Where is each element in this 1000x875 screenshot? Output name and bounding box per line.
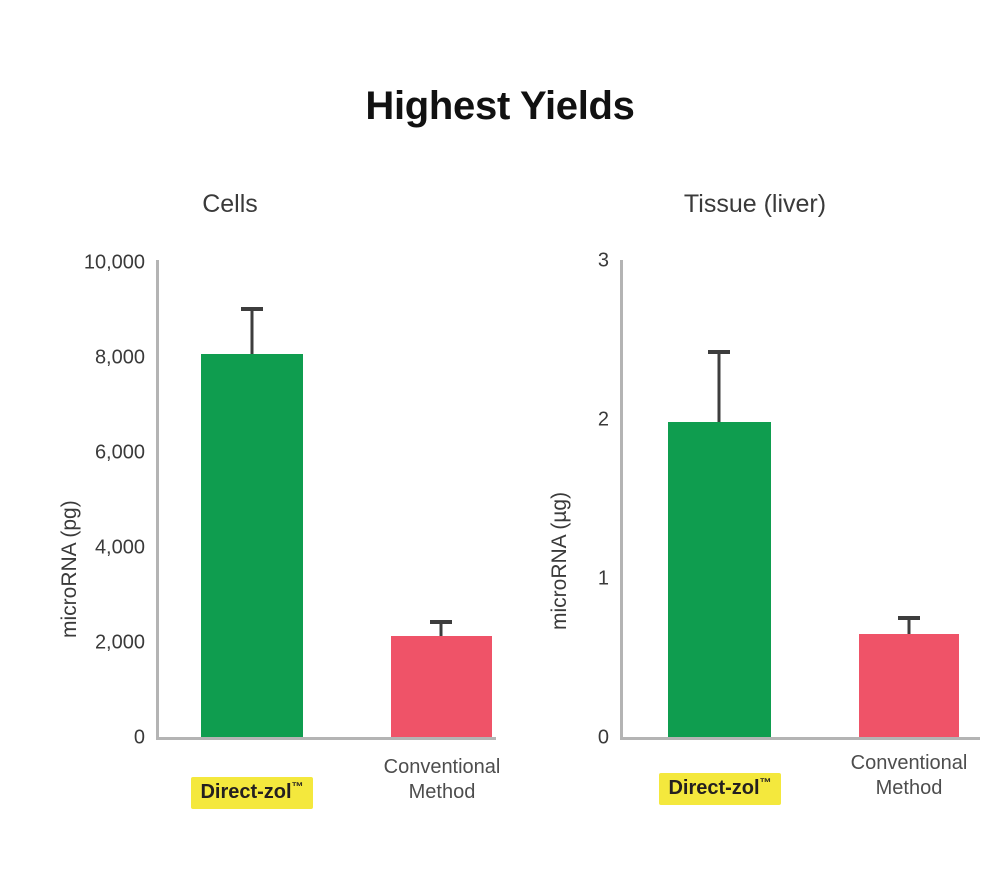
bar-tissue-conventional (859, 634, 959, 737)
y-tick-label-8000: 8,000 (95, 347, 145, 370)
error-cap-cells-conventional (430, 620, 452, 624)
bar-cells-conventional (391, 636, 492, 737)
x-tick-label-tissue-conventional: Conventional Method (843, 751, 975, 801)
x-tick-highlight-cells: Direct-zol™ (191, 777, 312, 809)
x-axis-line-tissue (620, 737, 980, 740)
chart-canvas: Highest Yields Cells microRNA (pg) 0 2,0… (0, 0, 1000, 875)
y-tick-label-6000: 6,000 (95, 442, 145, 465)
trademark-icon: ™ (760, 775, 772, 789)
error-bar-tissue-conventional (908, 618, 911, 634)
y-tick-label-tissue-0: 0 (598, 727, 609, 750)
plot-area-tissue: microRNA (µg) 0 1 2 3 Direct-zol™ Conven… (620, 260, 980, 740)
chart-title-tissue: Tissue (liver) (520, 190, 990, 219)
trademark-icon: ™ (292, 779, 304, 793)
y-tick-label-4000: 4,000 (95, 537, 145, 560)
brand-name-cells: Direct-zol (200, 781, 291, 803)
x-tick-label-cells-conventional: Conventional Method (376, 755, 508, 805)
bar-tissue-direct-zol (668, 422, 771, 737)
x-tick-label-tissue-direct-zol: Direct-zol™ (642, 748, 798, 805)
y-axis-label-cells: microRNA (pg) (58, 500, 82, 638)
y-tick-label-2000: 2,000 (95, 632, 145, 655)
error-bar-tissue-direct-zol (718, 352, 721, 422)
x-tick-label-cells-direct-zol: Direct-zol™ (174, 752, 330, 809)
y-tick-label-tissue-2: 2 (598, 409, 609, 432)
y-axis-line-tissue (620, 260, 623, 740)
error-cap-tissue-conventional (898, 616, 920, 620)
bar-cells-direct-zol (201, 354, 303, 737)
x-tick-highlight-tissue: Direct-zol™ (659, 773, 780, 805)
x-axis-line-cells (156, 737, 496, 740)
brand-name-tissue: Direct-zol (668, 777, 759, 799)
y-tick-label-tissue-1: 1 (598, 568, 609, 591)
error-bar-cells-conventional (440, 622, 443, 636)
y-axis-label-tissue: microRNA (µg) (548, 492, 572, 630)
y-axis-line-cells (156, 260, 159, 740)
error-cap-tissue-direct-zol (708, 350, 730, 354)
chart-title-cells: Cells (20, 190, 440, 219)
y-tick-label-10000: 10,000 (84, 252, 145, 275)
plot-area-cells: microRNA (pg) 0 2,000 4,000 6,000 8,000 … (156, 260, 496, 740)
page-title: Highest Yields (0, 84, 1000, 129)
y-tick-label-tissue-3: 3 (598, 250, 609, 273)
y-tick-label-0: 0 (134, 727, 145, 750)
error-cap-cells-direct-zol (241, 307, 263, 311)
error-bar-cells-direct-zol (251, 309, 254, 354)
